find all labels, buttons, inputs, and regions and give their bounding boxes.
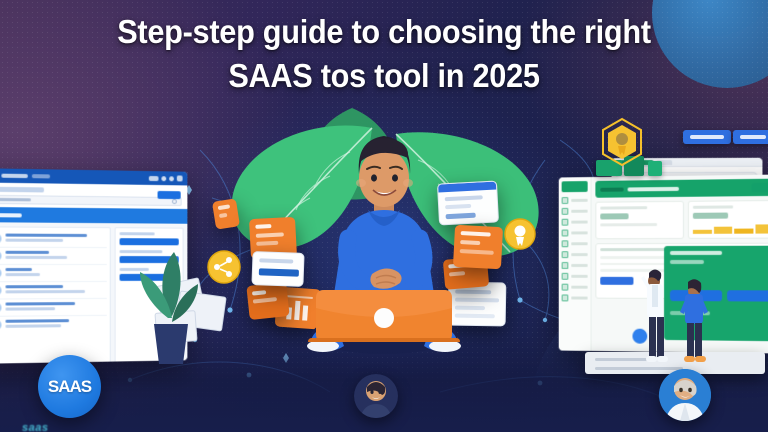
sidebar-item[interactable]: [562, 229, 588, 236]
sidebar-item[interactable]: [562, 294, 588, 301]
sidebar-item[interactable]: [562, 273, 588, 280]
list-item-icon: [0, 251, 1, 261]
list-item[interactable]: [0, 299, 106, 317]
trophy-coin-icon[interactable]: [502, 216, 538, 252]
share-network-icon[interactable]: [205, 248, 243, 286]
promo-banner[interactable]: [595, 179, 768, 198]
potted-plant-icon: [128, 248, 200, 366]
green-chip: [648, 161, 662, 176]
saas-badge[interactable]: SAAS: [38, 355, 101, 418]
award-hex-icon: [600, 118, 644, 166]
topbar-icon[interactable]: [169, 176, 174, 181]
sidebar-item-icon: [562, 284, 569, 291]
left-dashboard-list[interactable]: [0, 226, 110, 363]
headline-line-2: SAAS tos tool in 2025: [53, 54, 715, 98]
floating-card-orange[interactable]: [246, 282, 289, 320]
primary-action-button[interactable]: [158, 191, 181, 199]
sidebar-item-icon: [562, 219, 569, 226]
top-right-pill-buttons: [683, 130, 768, 144]
list-item-icon: [0, 285, 1, 295]
list-item[interactable]: [0, 265, 106, 282]
doctor-figure: [640, 268, 676, 364]
list-item[interactable]: [0, 282, 106, 300]
banner-button[interactable]: [751, 183, 768, 192]
sidebar-item-icon: [562, 273, 569, 280]
app-logo-icon: [562, 181, 588, 192]
search-input[interactable]: [0, 195, 182, 206]
list-item[interactable]: [0, 248, 106, 265]
sidebar-item-icon: [562, 208, 569, 215]
sidebar-item-icon: [562, 197, 569, 204]
search-icon: [172, 199, 177, 204]
pill-button[interactable]: [733, 130, 768, 144]
metric-card[interactable]: [688, 200, 768, 239]
avatar[interactable]: [354, 374, 398, 418]
sidebar-item[interactable]: [562, 262, 588, 269]
sidebar-item[interactable]: [562, 208, 588, 215]
list-item-icon: [0, 320, 1, 330]
page-title: Step-step guide to choosing the right SA…: [27, 10, 741, 98]
sidebar-item[interactable]: [562, 251, 588, 258]
sidebar-item-icon: [562, 230, 569, 237]
side-card-button[interactable]: [119, 238, 179, 245]
table-header: [0, 207, 187, 224]
list-item-icon: [0, 233, 1, 243]
metric-card[interactable]: [595, 201, 684, 239]
saas-badge-label: SAAS: [48, 377, 91, 397]
topbar-avatar[interactable]: [161, 176, 166, 181]
nurse-figure: [676, 278, 712, 364]
headline-line-1: Step-step guide to choosing the right: [117, 13, 651, 50]
green-panel-button[interactable]: [727, 290, 768, 301]
floating-card-orange-small[interactable]: [212, 198, 240, 229]
side-card[interactable]: [119, 232, 179, 245]
pill-button[interactable]: [683, 130, 731, 144]
sidebar-item-icon: [562, 240, 569, 247]
avatar[interactable]: [659, 369, 711, 421]
sidebar-item-icon: [562, 294, 569, 301]
sidebar-item[interactable]: [562, 284, 588, 291]
poster-canvas: Step-step guide to choosing the right SA…: [0, 0, 768, 432]
list-item-icon: [0, 303, 1, 313]
right-dashboard-sidebar[interactable]: [559, 177, 592, 351]
list-item[interactable]: [0, 230, 106, 248]
sidebar-item[interactable]: [562, 240, 588, 247]
sidebar-item-icon: [562, 262, 569, 269]
list-item[interactable]: [0, 316, 106, 333]
list-item-icon: [0, 268, 1, 278]
sidebar-item-icon: [562, 251, 569, 258]
man-with-laptop: [296, 128, 472, 364]
table-action-button[interactable]: [600, 277, 633, 285]
bottom-watermark: saas: [22, 422, 48, 432]
sidebar-item[interactable]: [562, 197, 588, 204]
sidebar-item[interactable]: [562, 219, 588, 226]
